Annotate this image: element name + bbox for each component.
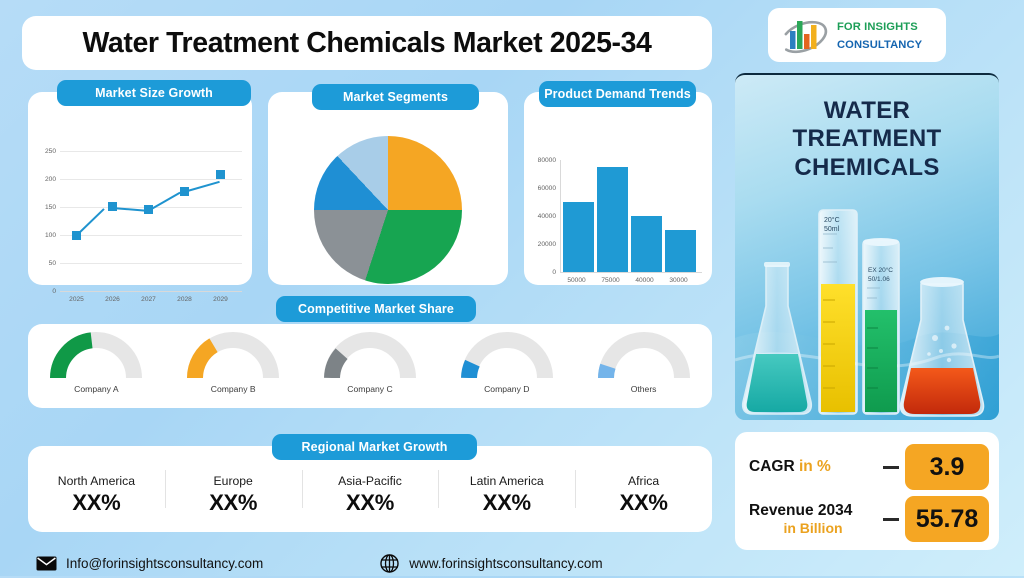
region-europe: Europe XX%: [165, 462, 302, 516]
gauge-label: Company D: [484, 384, 529, 394]
page-title: Water Treatment Chemicals Market 2025-34: [82, 27, 651, 60]
pie-graphic: [314, 136, 462, 284]
line-marker: [180, 187, 189, 196]
logo-line-1: FOR INSIGHTS: [837, 21, 918, 33]
gauge-others: Others: [575, 324, 712, 408]
gauge-svg: [324, 332, 416, 378]
line-ytick: 0: [30, 288, 56, 295]
bar-ytick: 40000: [524, 213, 556, 220]
region-north-america: North America XX%: [28, 462, 165, 516]
bar: [563, 202, 594, 272]
left-column: Water Treatment Chemicals Market 2025-34…: [14, 8, 720, 568]
gauge-company-c: Company C: [302, 324, 439, 408]
line-marker: [108, 202, 117, 211]
svg-text:50/1.06: 50/1.06: [868, 276, 890, 283]
gauge-svg: [598, 332, 690, 378]
region-value: XX%: [575, 490, 712, 516]
gauge-svg: [461, 332, 553, 378]
infographic-root: Water Treatment Chemicals Market 2025-34…: [0, 0, 1024, 576]
footer-email[interactable]: Info@forinsightsconsultancy.com: [36, 553, 263, 574]
logo-line-2: CONSULTANCY: [837, 39, 922, 51]
gauge-group: Company A Company B: [28, 324, 712, 408]
page-title-card: Water Treatment Chemicals Market 2025-34: [22, 16, 712, 70]
region-latin-america: Latin America XX%: [438, 462, 575, 516]
kpi-revenue-unit: in Billion: [749, 520, 877, 536]
region-value: XX%: [28, 490, 165, 516]
kpi-revenue-label-text: Revenue 2034: [749, 502, 852, 519]
gridline: [60, 235, 242, 236]
bar: [597, 167, 628, 272]
envelope-icon: [36, 553, 57, 574]
line-ytick: 100: [30, 232, 56, 239]
gauge-company-d: Company D: [438, 324, 575, 408]
line-xtick: 2029: [206, 296, 235, 303]
region-name: North America: [28, 474, 165, 488]
gauge-graphic: [50, 332, 142, 378]
svg-text:20°C: 20°C: [824, 216, 840, 224]
logo-text: FOR INSIGHTS CONSULTANCY: [837, 17, 922, 52]
kpi-cagr-label: CAGR in %: [749, 458, 877, 476]
line-ytick: 250: [30, 148, 56, 155]
kpi-cagr: CAGR in % 3.9: [749, 444, 989, 490]
hero-image-panel: WATER TREATMENT CHEMICALS: [735, 73, 999, 420]
region-name: Latin America: [438, 474, 575, 488]
gridline: [60, 151, 242, 152]
line-marker: [144, 205, 153, 214]
region-value: XX%: [438, 490, 575, 516]
kpi-revenue: Revenue 2034 in Billion 55.78: [749, 496, 989, 542]
hero-title: WATER TREATMENT CHEMICALS: [735, 97, 999, 182]
cylinder-green: EX 20°C 50/1.06: [863, 238, 899, 414]
region-name: Africa: [575, 474, 712, 488]
gauge-company-a: Company A: [28, 324, 165, 408]
hero-title-line3: CHEMICALS: [794, 154, 939, 181]
right-column: FOR INSIGHTS CONSULTANCY WATER TREATMENT…: [730, 0, 1024, 576]
bar-ytick: 60000: [524, 185, 556, 192]
card-market-segments: [268, 92, 508, 285]
laboratory-glassware-illustration: 20°C 50ml EX 20°C 50/1.06: [735, 188, 999, 420]
gauge-svg: [50, 332, 142, 378]
line-ytick: 200: [30, 176, 56, 183]
gauge-label: Others: [631, 384, 657, 394]
kpi-revenue-label: Revenue 2034 in Billion: [749, 502, 877, 536]
bar-xtick: 30000: [650, 277, 707, 284]
dash-separator: [883, 518, 899, 521]
line-xtick: 2025: [62, 296, 91, 303]
svg-text:EX 20°C: EX 20°C: [868, 266, 893, 274]
line-marker: [216, 170, 225, 179]
x-axis: [560, 272, 702, 273]
gauge-label: Company A: [74, 384, 118, 394]
badge-product-demand-trends: Product Demand Trends: [539, 81, 696, 107]
line-ytick: 50: [30, 260, 56, 267]
dash-separator: [883, 466, 899, 469]
globe-icon: [379, 553, 400, 574]
gauge-svg: [187, 332, 279, 378]
kpi-cagr-label-text: CAGR: [749, 458, 795, 475]
hero-title-line2: TREATMENT: [793, 125, 942, 152]
line-marker: [72, 231, 81, 240]
gauge-graphic: [324, 332, 416, 378]
footer-email-text: Info@forinsightsconsultancy.com: [66, 556, 263, 571]
badge-market-size-growth: Market Size Growth: [57, 80, 251, 106]
pie-chart: [268, 118, 508, 285]
line-segment: [184, 181, 220, 193]
line-xtick: 2026: [98, 296, 127, 303]
badge-competitive-market-share: Competitive Market Share: [276, 296, 476, 322]
hero-title-line1: WATER: [824, 97, 910, 124]
bar-chart: 80000 60000 40000 20000 0 50000 75000 40…: [524, 118, 712, 285]
bar-plot-area: [561, 160, 697, 272]
svg-text:50ml: 50ml: [824, 226, 840, 233]
line-chart: 250 200 150 100 50 0: [28, 118, 252, 285]
kpi-cagr-unit: in %: [799, 458, 831, 475]
region-asia-pacific: Asia-Pacific XX%: [302, 462, 439, 516]
line-xtick: 2028: [170, 296, 199, 303]
region-africa: Africa XX%: [575, 462, 712, 516]
footer-website-text: www.forinsightsconsultancy.com: [409, 556, 602, 571]
kpi-cagr-value: 3.9: [905, 444, 989, 490]
kpi-revenue-value: 55.78: [905, 496, 989, 542]
gauge-graphic: [187, 332, 279, 378]
gauge-label: Company B: [211, 384, 256, 394]
bar-ytick: 20000: [524, 241, 556, 248]
region-value: XX%: [165, 490, 302, 516]
gauge-graphic: [598, 332, 690, 378]
region-value: XX%: [302, 490, 439, 516]
badge-regional-market-growth: Regional Market Growth: [272, 434, 477, 460]
gauge-graphic: [461, 332, 553, 378]
card-market-size-growth: 250 200 150 100 50 0: [28, 92, 252, 285]
company-logo[interactable]: FOR INSIGHTS CONSULTANCY: [768, 8, 946, 62]
gauge-company-b: Company B: [165, 324, 302, 408]
line-ytick: 150: [30, 204, 56, 211]
bar-chart-globe-logo-icon: [778, 15, 830, 55]
footer-website[interactable]: www.forinsightsconsultancy.com: [379, 553, 602, 574]
bar-ytick: 80000: [524, 157, 556, 164]
card-product-demand-trends: 80000 60000 40000 20000 0 50000 75000 40…: [524, 92, 712, 285]
gridline: [60, 263, 242, 264]
badge-market-segments: Market Segments: [312, 84, 479, 110]
x-axis: [60, 291, 242, 292]
bar: [665, 230, 696, 272]
line-xtick: 2027: [134, 296, 163, 303]
card-competitive-market-share: Company A Company B: [28, 324, 712, 408]
gauge-label: Company C: [347, 384, 392, 394]
cylinder-yellow: 20°C 50ml: [819, 210, 857, 414]
region-name: Asia-Pacific: [302, 474, 439, 488]
gridline: [60, 179, 242, 180]
kpi-card: CAGR in % 3.9 Revenue 2034 in Billion 55…: [735, 432, 999, 550]
region-name: Europe: [165, 474, 302, 488]
bar-ytick: 0: [524, 269, 556, 276]
footer: Info@forinsightsconsultancy.com www.fori…: [36, 548, 736, 578]
bar: [631, 216, 662, 272]
